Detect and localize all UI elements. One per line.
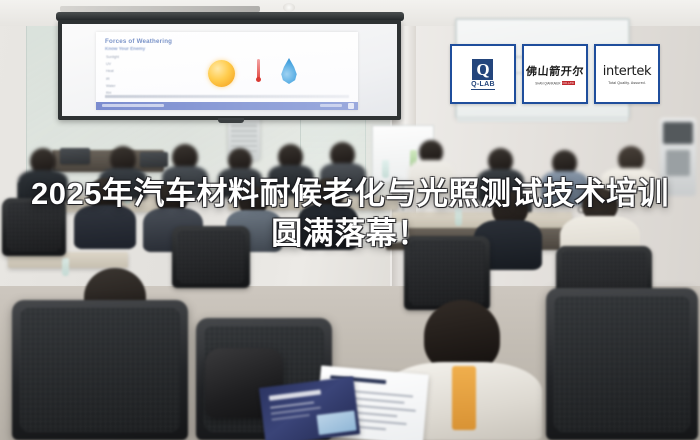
event-banner: Forces of Weathering Know Your Enemy Sun… bbox=[0, 0, 700, 440]
overlay-title: 2025年汽车材料耐候老化与光照测试技术培训 圆满落幕！ bbox=[0, 176, 700, 252]
q-lab-logo: Q Q-LAB bbox=[471, 59, 495, 90]
foshan-chinese-name: 佛山箭开尔 bbox=[525, 63, 584, 79]
intertek-logo-card: intertek Total Quality. Assured. bbox=[594, 44, 660, 104]
q-lab-logo-card: Q Q-LAB bbox=[450, 44, 516, 104]
title-line-1: 2025年汽车材料耐候老化与光照测试技术培训 bbox=[0, 176, 700, 213]
title-line-2: 圆满落幕！ bbox=[0, 216, 700, 253]
foshan-logo-card: 佛山箭开尔 SHAN QIANKAIER CO.,LTD bbox=[522, 44, 588, 104]
q-lab-mark-icon: Q bbox=[472, 59, 493, 80]
office-chair bbox=[12, 300, 188, 440]
lanyard bbox=[452, 366, 476, 430]
brochure bbox=[259, 376, 360, 440]
foshan-qianfuer-logo: 佛山箭开尔 SHAN QIANKAIER CO.,LTD bbox=[525, 63, 585, 85]
intertek-logo: intertek Total Quality. Assured. bbox=[603, 64, 652, 85]
foshan-badge: CO.,LTD bbox=[562, 81, 575, 85]
q-lab-letter: Q bbox=[476, 61, 489, 78]
office-chair bbox=[546, 288, 698, 440]
q-lab-wordmark: Q-LAB bbox=[471, 81, 495, 90]
foshan-english-row: SHAN QIANKAIER CO.,LTD bbox=[535, 81, 574, 85]
partner-logo-row: Q Q-LAB 佛山箭开尔 SHAN QIANKAIER CO.,LTD int… bbox=[450, 44, 660, 104]
intertek-tagline: Total Quality. Assured. bbox=[608, 81, 646, 85]
foshan-english-name: SHAN QIANKAIER bbox=[535, 80, 560, 85]
intertek-wordmark: intertek bbox=[603, 64, 652, 79]
